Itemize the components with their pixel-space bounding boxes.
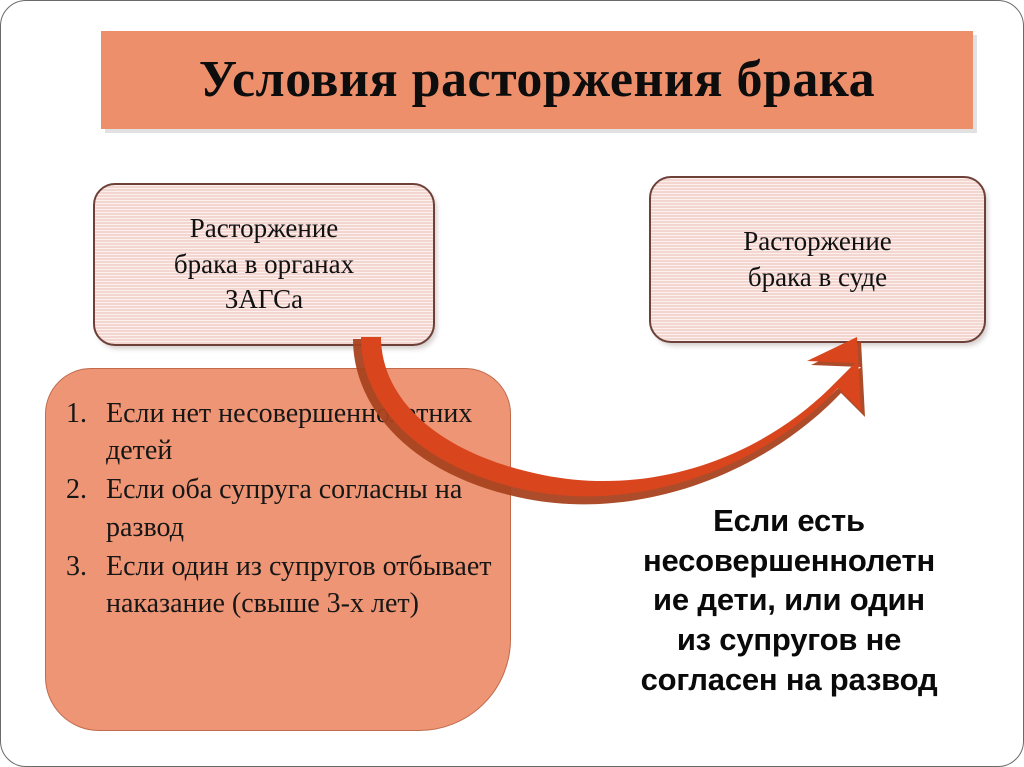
box-registry-office[interactable]: Расторжение брака в органах ЗАГСа bbox=[93, 183, 435, 346]
title-banner: Условия расторжения брака bbox=[101, 31, 973, 129]
box-court-line1: Расторжение bbox=[743, 226, 892, 256]
list-item: Если оба супруга согласны на развод bbox=[104, 471, 494, 545]
caption-line-2: несовершеннолетн bbox=[587, 541, 991, 581]
box-court-text: Расторжение брака в суде bbox=[731, 224, 904, 295]
box-court-line2: брака в суде bbox=[748, 262, 887, 292]
list-item: Если нет несовершеннолетних детей bbox=[104, 395, 494, 469]
list-item: Если один из супругов отбывает наказание… bbox=[104, 548, 494, 622]
caption-line-5: согласен на развод bbox=[587, 660, 991, 700]
page-title: Условия расторжения брака bbox=[199, 54, 875, 106]
box-registry-office-text: Расторжение брака в органах ЗАГСа bbox=[162, 211, 366, 318]
caption-line-4: из супругов не bbox=[587, 620, 991, 660]
caption-line-3: ие дети, или один bbox=[587, 580, 991, 620]
box-registry-office-line2: брака в органах bbox=[174, 249, 354, 279]
court-condition-caption: Если есть несовершеннолетн ие дети, или … bbox=[587, 501, 991, 699]
box-court[interactable]: Расторжение брака в суде bbox=[649, 176, 986, 343]
conditions-box: Если нет несовершеннолетних детей Если о… bbox=[45, 368, 511, 731]
box-registry-office-line3: ЗАГСа bbox=[225, 284, 303, 314]
caption-line-1: Если есть bbox=[587, 501, 991, 541]
box-registry-office-line1: Расторжение bbox=[190, 213, 339, 243]
conditions-list: Если нет несовершеннолетних детей Если о… bbox=[46, 369, 510, 622]
slide-canvas: Условия расторжения брака Расторжение бр… bbox=[0, 0, 1024, 767]
